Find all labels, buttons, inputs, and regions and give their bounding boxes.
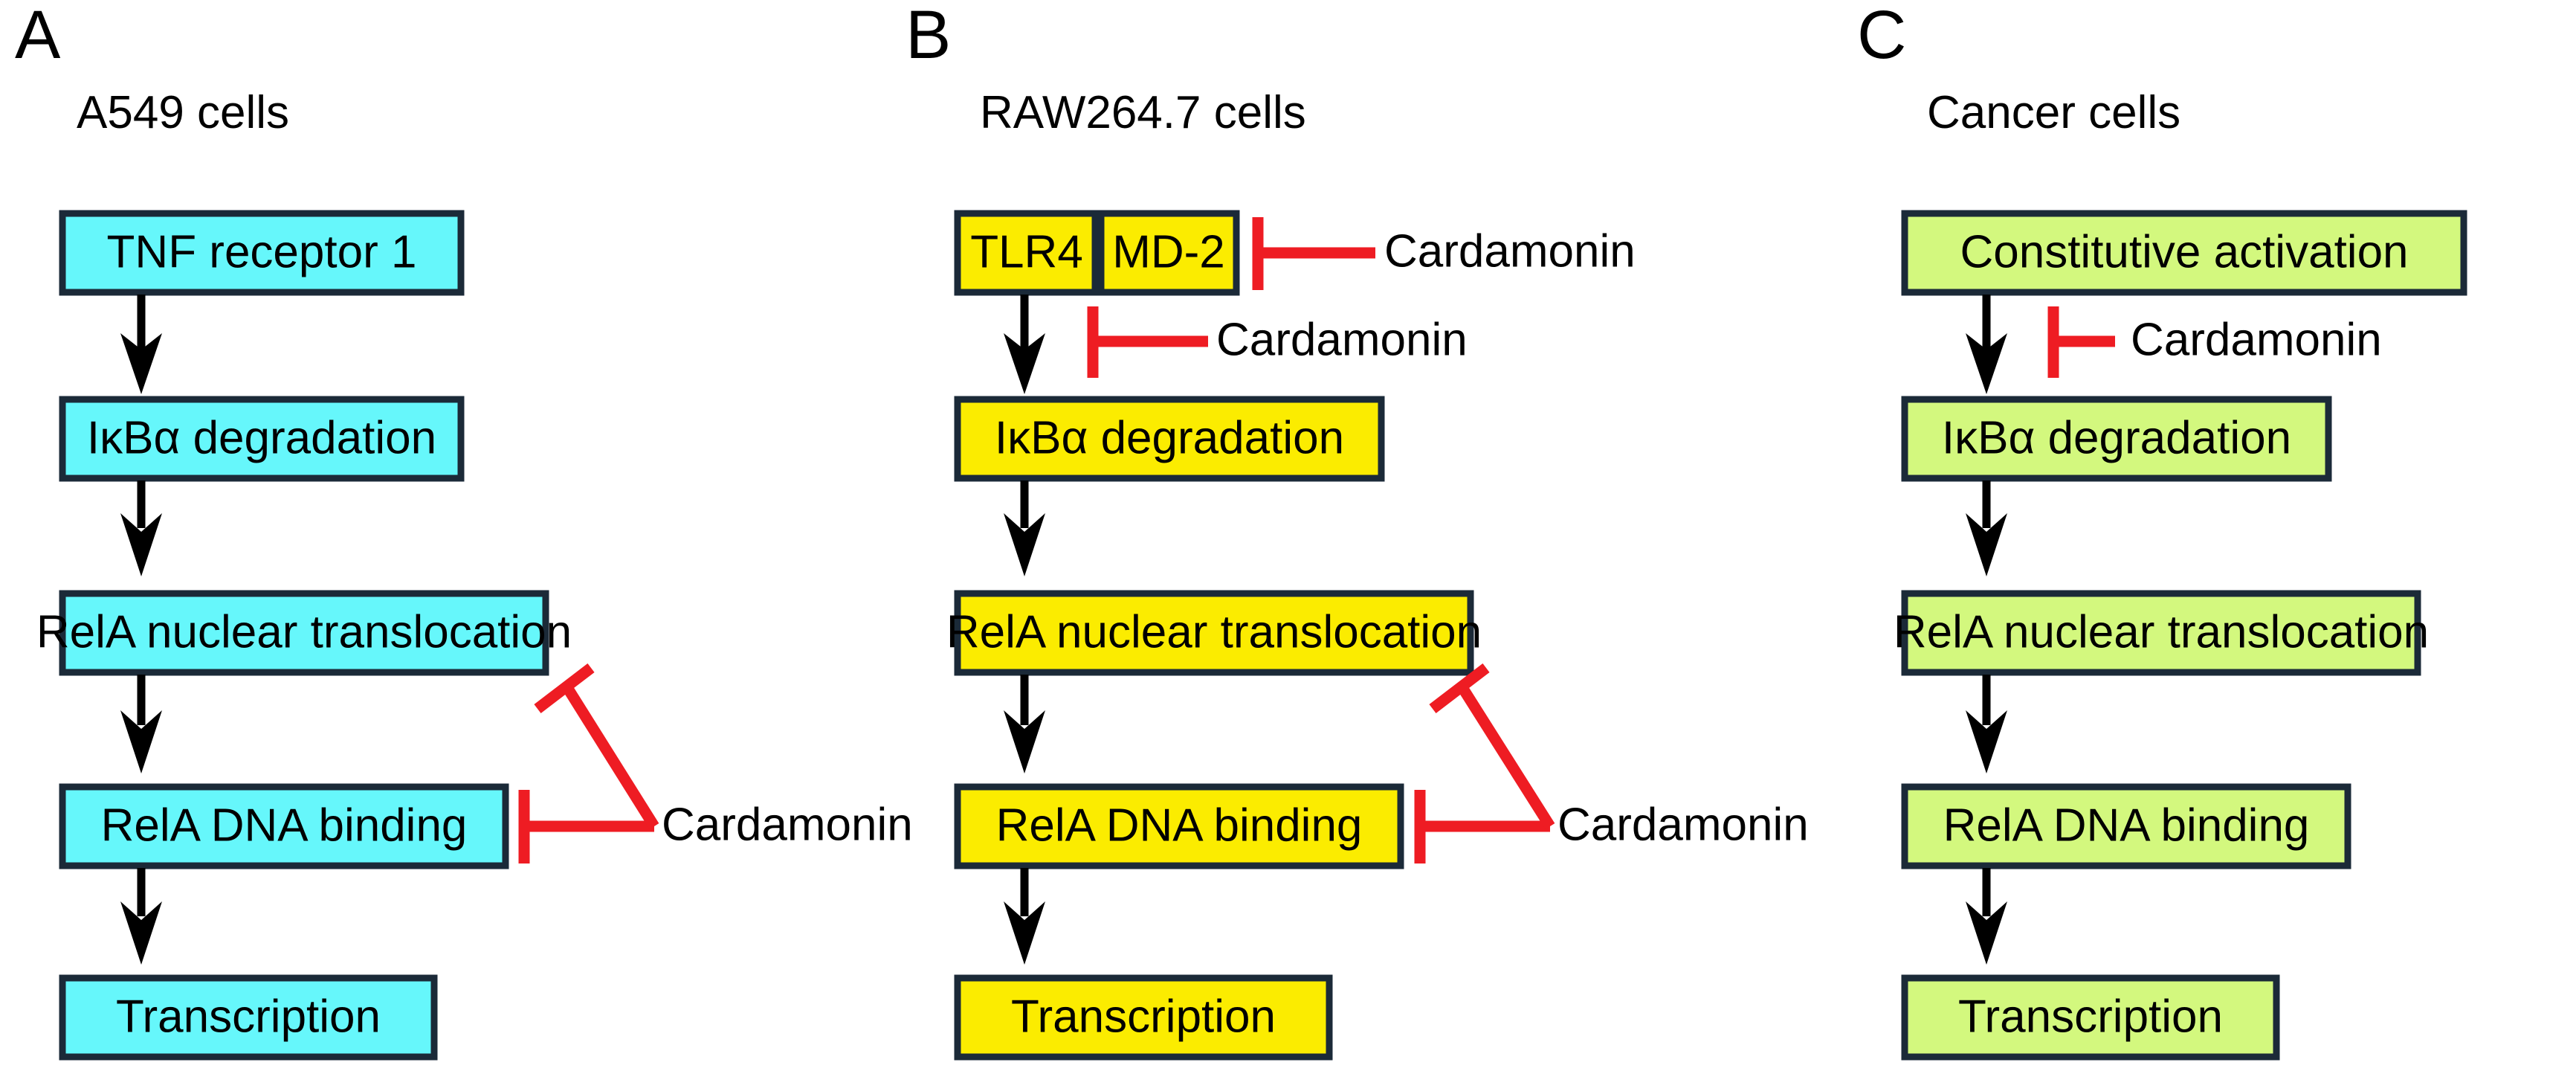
arrow-a4 — [120, 868, 162, 965]
panel-b: B RAW264.7 cells TLR4 MD-2 Cardamonin — [906, 0, 1809, 1057]
inhibitor-b-receptor-cardamonin[interactable]: Cardamonin — [1258, 217, 1636, 290]
arrow-a3 — [120, 675, 162, 773]
arrow-b3 — [1004, 675, 1045, 773]
box-label-rela-dna-binding-c: RelA DNA binding — [1943, 800, 2310, 851]
panel-c: C Cancer cells Constitutive activation C… — [1857, 0, 2464, 1057]
box-label-rela-nuclear-translocation-c: RelA nuclear translocation — [1894, 606, 2429, 657]
inhibitor-c-cardamonin[interactable]: Cardamonin — [2053, 306, 2382, 378]
box-label-constitutive-activation: Constitutive activation — [1960, 226, 2408, 277]
arrow-a2 — [120, 480, 162, 576]
inhibitor-label-b-arrow-cardamonin: Cardamonin — [1216, 314, 1468, 365]
inhibitor-b-arrow-cardamonin[interactable]: Cardamonin — [1093, 306, 1468, 378]
box-label-transcription-a: Transcription — [116, 991, 381, 1042]
panel-title-a: A549 cells — [77, 87, 289, 138]
box-label-rela-dna-binding-a: RelA DNA binding — [101, 800, 468, 851]
panel-letter-b: B — [906, 0, 951, 73]
inhibitor-label-c-cardamonin: Cardamonin — [2131, 314, 2382, 365]
box-label-tnf-receptor-1: TNF receptor 1 — [107, 226, 417, 277]
box-label-transcription-c: Transcription — [1958, 991, 2223, 1042]
panel-a: A A549 cells TNF receptor 1 IκBα degrada… — [15, 0, 913, 1057]
inhibitor-label-b-receptor-cardamonin: Cardamonin — [1384, 225, 1636, 277]
box-label-transcription-b: Transcription — [1011, 991, 1276, 1042]
box-label-tlr4: TLR4 — [970, 226, 1083, 277]
panel-letter-a: A — [15, 0, 61, 73]
box-label-ikba-degradation-c: IκBα degradation — [1942, 412, 2291, 463]
arrow-c2 — [1966, 480, 2007, 576]
figure-canvas: A A549 cells TNF receptor 1 IκBα degrada… — [0, 0, 2576, 1071]
arrow-b4 — [1004, 868, 1045, 965]
box-label-ikba-degradation-a: IκBα degradation — [87, 412, 436, 463]
box-label-rela-dna-binding-b: RelA DNA binding — [996, 800, 1363, 851]
inhibitor-b-cardamonin[interactable]: Cardamonin — [1420, 668, 1809, 863]
box-label-rela-nuclear-translocation-a: RelA nuclear translocation — [36, 606, 572, 657]
arrow-b2 — [1004, 480, 1045, 576]
box-label-ikba-degradation-b: IκBα degradation — [995, 412, 1344, 463]
inhibitor-a-cardamonin[interactable]: Cardamonin — [524, 668, 913, 863]
panel-title-c: Cancer cells — [1927, 87, 2180, 138]
arrow-c3 — [1966, 675, 2007, 773]
arrow-c1 — [1966, 295, 2007, 394]
arrow-c4 — [1966, 868, 2007, 965]
panel-letter-c: C — [1857, 0, 1906, 73]
panel-title-b: RAW264.7 cells — [980, 87, 1306, 138]
arrow-b1 — [1004, 295, 1045, 394]
inhibitor-label-a-cardamonin: Cardamonin — [662, 799, 913, 850]
inhibitor-label-b-cardamonin: Cardamonin — [1557, 799, 1809, 850]
arrow-a1 — [120, 295, 162, 394]
box-label-md-2: MD-2 — [1112, 226, 1225, 277]
box-label-rela-nuclear-translocation-b: RelA nuclear translocation — [946, 606, 1482, 657]
